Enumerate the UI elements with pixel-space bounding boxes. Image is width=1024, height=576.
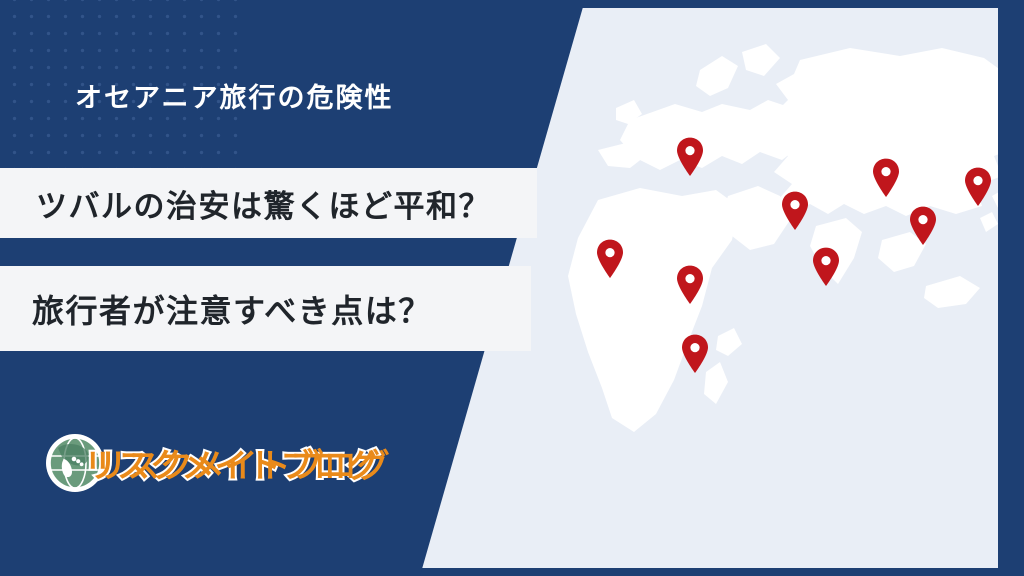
subtitle-text-1: ツバルの治安は驚くほど平和？: [36, 181, 491, 226]
map-pin-icon: [680, 334, 710, 379]
map-pin-icon: [595, 239, 625, 284]
thumbnail-canvas: オセアニア旅行の危険性 ツバルの治安は驚くほど平和？ 旅行者が注意すべき点は？: [0, 0, 1024, 576]
map-pin-icon: [675, 265, 705, 310]
map-pin-icon: [675, 137, 705, 182]
frame-right: [998, 0, 1024, 576]
map-pin-icon: [963, 167, 993, 212]
brand-logo-text-wrap: リスクメイトブログ リスクメイトブログ: [94, 439, 380, 487]
subtitle-text-2: 旅行者が注意すべき点は？: [32, 286, 432, 332]
map-pin-icon: [780, 191, 810, 236]
page-title: オセアニア旅行の危険性: [75, 76, 393, 115]
map-pin-icon: [871, 158, 901, 203]
subtitle-bar-2: 旅行者が注意すべき点は？: [0, 266, 531, 351]
subtitle-bar-1: ツバルの治安は驚くほど平和？: [0, 168, 537, 238]
brand-logo-text: リスクメイトブログ: [94, 439, 390, 487]
brand-logo: リスクメイトブログ リスクメイトブログ: [44, 432, 380, 494]
map-pin-icon: [811, 247, 841, 292]
map-pin-icon: [908, 206, 938, 251]
